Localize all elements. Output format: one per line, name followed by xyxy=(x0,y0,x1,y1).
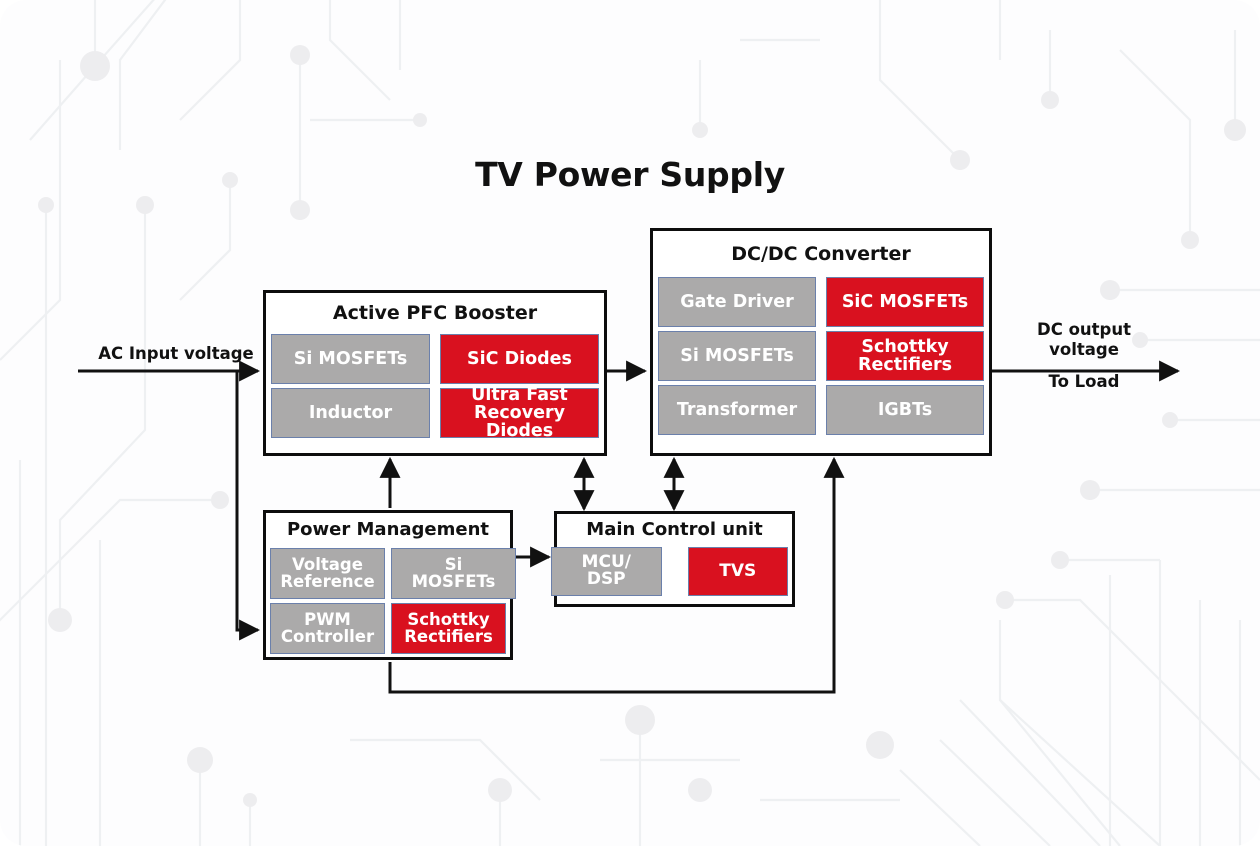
block-title-pfc: Active PFC Booster xyxy=(266,304,604,324)
chip-grid-main-control-unit: MCU/ DSP TVS xyxy=(561,547,788,596)
block-dcdc-converter[interactable]: DC/DC Converter Gate Driver SiC MOSFETs … xyxy=(650,228,992,456)
chip-pm-pwm-controller[interactable]: PWM Controller xyxy=(270,603,385,654)
connector-wires xyxy=(0,0,1260,846)
label-ac-input-voltage: AC Input voltage xyxy=(86,344,266,364)
chip-mcu-tvs[interactable]: TVS xyxy=(688,547,789,596)
chip-pm-voltage-reference[interactable]: Voltage Reference xyxy=(270,548,385,599)
chip-dcdc-schottky-rectifiers[interactable]: Schottky Rectifiers xyxy=(826,331,984,381)
chip-dcdc-gate-driver[interactable]: Gate Driver xyxy=(658,277,816,327)
chip-pfc-si-mosfets[interactable]: Si MOSFETs xyxy=(271,334,430,384)
chip-grid-pfc: Si MOSFETs SiC Diodes Inductor Ultra Fas… xyxy=(271,334,599,438)
wire-ac-branch-down xyxy=(237,371,258,630)
page-title: TV Power Supply xyxy=(0,155,1260,194)
chip-pfc-inductor[interactable]: Inductor xyxy=(271,388,430,438)
chip-pm-si-mosfets[interactable]: Si MOSFETs xyxy=(391,548,516,599)
chip-grid-dcdc: Gate Driver SiC MOSFETs Si MOSFETs Schot… xyxy=(658,277,984,435)
block-title-power-management: Power Management xyxy=(266,521,510,540)
block-main-control-unit[interactable]: Main Control unit MCU/ DSP TVS xyxy=(554,511,795,607)
chip-pfc-sic-diodes[interactable]: SiC Diodes xyxy=(440,334,599,384)
block-title-dcdc: DC/DC Converter xyxy=(653,245,989,265)
chip-dcdc-si-mosfets[interactable]: Si MOSFETs xyxy=(658,331,816,381)
chip-pfc-ultra-fast-recovery-diodes[interactable]: Ultra Fast Recovery Diodes xyxy=(440,388,599,438)
chip-pm-schottky-rectifiers[interactable]: Schottky Rectifiers xyxy=(391,603,506,654)
diagram-canvas: TV Power Supply Active PFC Booster Si MO… xyxy=(0,0,1260,846)
chip-dcdc-sic-mosfets[interactable]: SiC MOSFETs xyxy=(826,277,984,327)
block-title-main-control-unit: Main Control unit xyxy=(557,521,792,540)
label-dc-output-voltage: DC output voltage xyxy=(1005,320,1163,360)
chip-grid-power-management: Voltage Reference Si MOSFETs PWM Control… xyxy=(270,548,506,654)
label-to-load: To Load xyxy=(1005,372,1163,392)
chip-dcdc-transformer[interactable]: Transformer xyxy=(658,385,816,435)
block-power-management[interactable]: Power Management Voltage Reference Si MO… xyxy=(263,510,513,660)
chip-dcdc-igbts[interactable]: IGBTs xyxy=(826,385,984,435)
chip-mcu-mcu-dsp[interactable]: MCU/ DSP xyxy=(551,547,662,596)
block-active-pfc-booster[interactable]: Active PFC Booster Si MOSFETs SiC Diodes… xyxy=(263,290,607,456)
